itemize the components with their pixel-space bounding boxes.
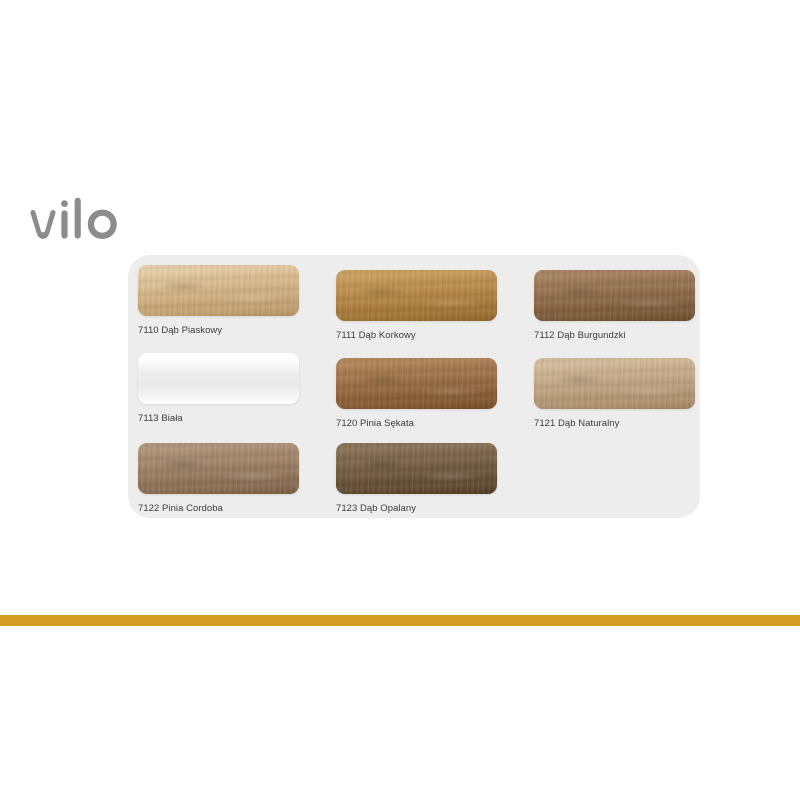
swatch-label-7110: 7110 Dąb Piaskowy bbox=[138, 325, 303, 337]
vilo-wordmark-icon bbox=[26, 196, 146, 252]
swatch-chip-7123[interactable] bbox=[336, 443, 497, 494]
swatch-chip-7111[interactable] bbox=[336, 270, 497, 321]
swatch-chip-7120[interactable] bbox=[336, 358, 497, 409]
decor-swatch-card: 7110 Dąb Piaskowy7111 Dąb Korkowy7112 Dą… bbox=[128, 255, 700, 518]
swatch-item-7122[interactable]: 7122 Pinia Cordoba bbox=[138, 443, 303, 515]
swatch-label-7122: 7122 Pinia Cordoba bbox=[138, 503, 303, 515]
swatch-chip-7113[interactable] bbox=[138, 353, 299, 404]
swatch-item-7121[interactable]: 7121 Dąb Naturalny bbox=[534, 358, 699, 430]
swatch-item-7120[interactable]: 7120 Pinia Sękata bbox=[336, 358, 501, 430]
swatch-chip-7121[interactable] bbox=[534, 358, 695, 409]
wood-grain-texture bbox=[534, 358, 695, 409]
swatch-item-7112[interactable]: 7112 Dąb Burgundzki bbox=[534, 270, 699, 342]
swatch-label-7121: 7121 Dąb Naturalny bbox=[534, 418, 699, 430]
wood-grain-texture bbox=[138, 443, 299, 494]
wood-grain-texture bbox=[534, 270, 695, 321]
swatch-label-7113: 7113 Biała bbox=[138, 413, 303, 425]
wood-grain-texture bbox=[336, 443, 497, 494]
swatch-item-7110[interactable]: 7110 Dąb Piaskowy bbox=[138, 265, 303, 337]
wood-grain-texture bbox=[138, 353, 299, 404]
swatch-chip-7112[interactable] bbox=[534, 270, 695, 321]
wood-grain-texture bbox=[336, 358, 497, 409]
swatch-label-7111: 7111 Dąb Korkowy bbox=[336, 330, 501, 342]
swatch-item-7113[interactable]: 7113 Biała bbox=[138, 353, 303, 425]
bottom-accent-bar bbox=[0, 615, 800, 626]
vilo-logo bbox=[26, 196, 146, 252]
swatch-grid: 7110 Dąb Piaskowy7111 Dąb Korkowy7112 Dą… bbox=[128, 255, 700, 518]
swatch-item-7123[interactable]: 7123 Dąb Opalany bbox=[336, 443, 501, 515]
swatch-label-7123: 7123 Dąb Opalany bbox=[336, 503, 501, 515]
swatch-chip-7122[interactable] bbox=[138, 443, 299, 494]
swatch-label-7112: 7112 Dąb Burgundzki bbox=[534, 330, 699, 342]
swatch-chip-7110[interactable] bbox=[138, 265, 299, 316]
swatch-label-7120: 7120 Pinia Sękata bbox=[336, 418, 501, 430]
swatch-item-7111[interactable]: 7111 Dąb Korkowy bbox=[336, 270, 501, 342]
wood-grain-texture bbox=[138, 265, 299, 316]
wood-grain-texture bbox=[336, 270, 497, 321]
